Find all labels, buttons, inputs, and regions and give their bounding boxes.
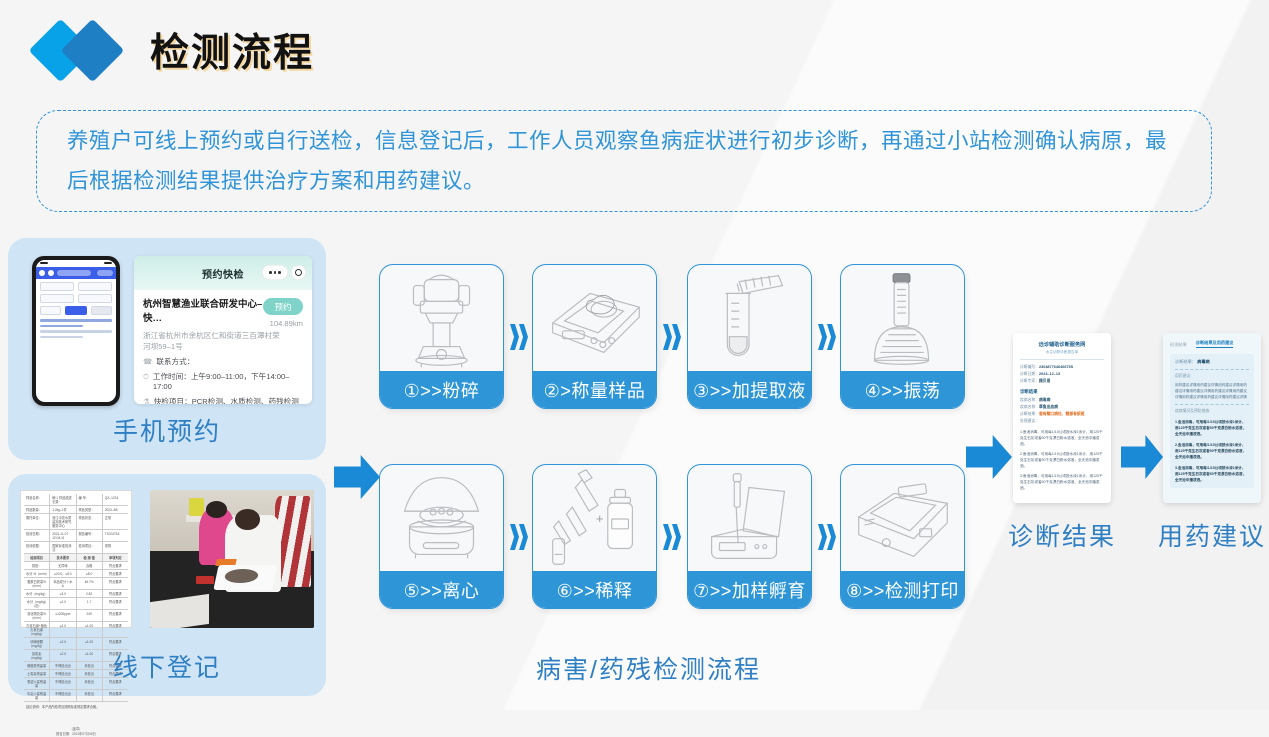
items-value: PCR检测、水质检测、药残检测 bbox=[192, 397, 299, 404]
contact-label: 联系方式： bbox=[156, 357, 194, 367]
diagnostic-field: 诊断编号：230487764646675S bbox=[1020, 364, 1104, 371]
miniapp-header: 预约快检 bbox=[134, 256, 312, 290]
diagnostic-paragraph: 1.鱼池消毒，可用每1/15公顷按水深1米计，用125千克生石灰或者50千克漂白… bbox=[1020, 429, 1104, 447]
store-distance: 104.89km bbox=[270, 319, 303, 328]
grinder-icon bbox=[380, 265, 503, 373]
diagnostic-row: 处理建议： bbox=[1020, 418, 1104, 425]
phone-icon: ☎ bbox=[143, 357, 152, 367]
lab-report-date: 报告日期：2021年07月08日 bbox=[24, 732, 128, 737]
filter-row-2 bbox=[36, 291, 116, 303]
chevron-right-icon-4 bbox=[508, 518, 534, 556]
lab-report-sign: （盖章） 报告日期：2021年07月08日 bbox=[24, 727, 128, 737]
step-label-5: ⑤>>离心 bbox=[380, 571, 503, 608]
test-tube-icon bbox=[688, 265, 811, 373]
table-row: 氯化物总量%（m/m）≤1200ppm249符合要求 bbox=[24, 610, 128, 622]
advice-note: 1.鱼池消毒，可用每/1/15公顷按水深1米计，用125千克生石灰或者50千克漂… bbox=[1175, 419, 1249, 437]
diagnostic-title: 远诊辅助诊断服务网 bbox=[1020, 341, 1104, 349]
items-row: ⚗ 快检项目：PCR检测、水质检测、药残检测 bbox=[143, 397, 303, 404]
arrow-to-advice bbox=[1121, 435, 1163, 479]
hours-row: ⏱ 工作时间：上午9:00–11:00，下午14:00–17:00 bbox=[143, 372, 303, 392]
step-card-3[interactable]: ③>>加提取液 bbox=[687, 264, 812, 409]
advice-box: 诊断结果： 病毒病 用药建议: 用药建议详情用药建议详情用药建议详情用药建议详情… bbox=[1170, 354, 1254, 488]
incubator-icon bbox=[688, 465, 811, 573]
back-icon bbox=[39, 270, 45, 276]
diagnostic-paragraph: 3.鱼池消毒，可用每1/15公顷按水深1米计，用125千克生石灰或者50千克漂白… bbox=[1020, 473, 1104, 491]
step-card-8[interactable]: ⑧>>检测打印 bbox=[840, 464, 965, 609]
phone-navbar bbox=[36, 267, 116, 279]
diagnostic-paragraphs: 1.鱼池消毒，可用每1/15公顷按水深1米计，用125千克生石灰或者50千克漂白… bbox=[1020, 429, 1104, 491]
miniapp-booking-card[interactable]: 预约快检 杭州智慧渔业联合研发中心–快… 预约 浙江省杭州市余杭区仁和街道三百潭… bbox=[134, 256, 312, 404]
step-card-2[interactable]: ②>称量样品 bbox=[532, 264, 657, 409]
scale-icon bbox=[533, 265, 656, 373]
lab-report-header-table: 样品名称：鲫 1 样品描述记录编 号：QX–1234样品数量：1.2kg–1件样… bbox=[24, 494, 128, 554]
step-label-8: ⑧>>检测打印 bbox=[841, 571, 964, 608]
result-caption-diagnosis: 诊断结果 bbox=[1008, 517, 1116, 553]
navbar-actions-placeholder bbox=[97, 270, 113, 276]
lab-report-document: 样品名称：鲫 1 样品描述记录编 号：QX–1234样品数量：1.2kg–1件样… bbox=[20, 490, 132, 628]
intro-callout: 养殖户可线上预约或自行送检，信息登记后，工作人员观察鱼病症状进行初步诊断，再通过… bbox=[36, 110, 1212, 212]
tab-diagnosis-advice[interactable]: 诊断结果及用药建议 bbox=[1196, 340, 1234, 348]
contact-row: ☎ 联系方式： bbox=[143, 357, 303, 367]
diagnostic-field: 诊断日期：2023–12–13 bbox=[1020, 371, 1104, 378]
book-button[interactable]: 预约 bbox=[263, 298, 303, 315]
diagnostic-report-sheet: 远诊辅助诊断服务网 水生动物诊断报告单 诊断编号：230487764646675… bbox=[1013, 333, 1111, 503]
table-row: 样品名称：鲫 1 样品描述记录编 号：QX–1234 bbox=[24, 494, 128, 506]
hours-label: 工作时间： bbox=[153, 372, 191, 381]
card-mobile-booking[interactable]: 预约快检 杭州智慧渔业联合研发中心–快… 预约 浙江省杭州市余杭区仁和街道三百潭… bbox=[8, 238, 326, 460]
diamond-logo-icon bbox=[36, 18, 132, 82]
page-header: 检测流程 bbox=[36, 18, 314, 82]
store-name: 杭州智慧渔业联合研发中心–快… bbox=[143, 298, 265, 326]
step-card-5[interactable]: ⑤>>离心 bbox=[379, 464, 504, 609]
chevron-right-icon-2 bbox=[661, 318, 687, 356]
store-address: 浙江省杭州市余杭区仁和街道三百潭村荣河坝59–1号 bbox=[143, 330, 283, 352]
table-row: 孔雀石绿+隐色孔雀石绿（mg/kg）≤2.0≤1.00符合要求 bbox=[24, 622, 128, 638]
diagnostic-section-title: 诊断结果 bbox=[1020, 389, 1104, 395]
advice-screen: 检测结果 诊断结果及用药建议 诊断结果： 病毒病 用药建议: 用药建议详情用药建… bbox=[1163, 333, 1261, 503]
slide-page: 检测流程 养殖户可线上预约或自行送检，信息登记后，工作人员观察鱼病症状进行初步诊… bbox=[0, 0, 1269, 710]
advice-result-key: 诊断结果： bbox=[1175, 359, 1196, 364]
navbar-title-placeholder bbox=[57, 270, 91, 276]
clock-icon: ⏱ bbox=[143, 372, 149, 382]
step-label-6: ⑥>>稀释 bbox=[533, 571, 656, 608]
advice-notes-label: 疾病情况及预防措施: bbox=[1175, 409, 1249, 414]
chevron-right-icon-3 bbox=[816, 318, 842, 356]
step-label-7: ⑦>>加样孵育 bbox=[688, 571, 811, 608]
step-label-1: ①>>粉碎 bbox=[380, 371, 503, 408]
table-row: 水分 %（m/m）≤20.0，≤8.0≤8.0符合要求 bbox=[24, 570, 128, 578]
phone-mockup bbox=[32, 256, 120, 406]
diagnostic-row: 诊断结果：患有鳃口病灶、鳃部有瘀斑 bbox=[1020, 411, 1104, 418]
phone-statusbar bbox=[36, 260, 116, 267]
diagnostic-row: 疾病名称：病毒病 bbox=[1020, 397, 1104, 404]
page-title: 检测流程 bbox=[150, 22, 314, 78]
result-advice[interactable]: 检测结果 诊断结果及用药建议 诊断结果： 病毒病 用药建议: 用药建议详情用药建… bbox=[1163, 333, 1261, 503]
table-header-row: 检测项目技术要求检 测 值单项判定 bbox=[24, 554, 128, 562]
table-row: 检测日期：2021–5–07 12:04:11报告编号：T102473A bbox=[24, 530, 128, 542]
centrifuge-icon bbox=[380, 465, 503, 573]
more-icon[interactable] bbox=[262, 265, 288, 280]
items-label: 快检项目： bbox=[154, 397, 192, 404]
vortex-mixer-icon bbox=[841, 265, 964, 373]
table-row: 检测依据：国家标准检测法检测项目：常规 bbox=[24, 542, 128, 554]
card-offline-registration[interactable]: 样品名称：鲫 1 样品描述记录编 号：QX–1234样品数量：1.2kg–1件样… bbox=[8, 474, 326, 696]
table-row: 氧氟沙星残留量不得检出出未检出符合要求 bbox=[24, 690, 128, 702]
reader-printer-icon bbox=[841, 465, 964, 573]
chevron-right-icon-6 bbox=[816, 518, 842, 556]
intro-text: 养殖户可线上预约或自行送检，信息登记后，工作人员观察鱼病症状进行初步诊断，再通过… bbox=[37, 121, 1211, 201]
step-card-7[interactable]: ⑦>>加样孵育 bbox=[687, 464, 812, 609]
miniapp-title: 预约快检 bbox=[202, 266, 244, 281]
phone-screen bbox=[36, 260, 116, 402]
field-registration-photo bbox=[150, 490, 314, 628]
table-row: 水分（mg/kg）≤3.02.82符合要求 bbox=[24, 590, 128, 598]
step-label-4: ④>>振荡 bbox=[841, 371, 964, 408]
flow-caption: 病害/药残检测流程 bbox=[536, 650, 761, 686]
chevron-right-icon-1 bbox=[508, 318, 534, 356]
lab-report-footnote: 结论说明：本产品所检项目按照标准规定要求合格。 bbox=[24, 702, 128, 713]
advice-notes: 1.鱼池消毒，可用每/1/15公顷按水深1米计，用125千克生石灰或者50千克漂… bbox=[1175, 419, 1249, 483]
result-diagnosis[interactable]: 远诊辅助诊断服务网 水生动物诊断报告单 诊断编号：230487764646675… bbox=[1013, 333, 1111, 503]
step-card-4[interactable]: ④>>振荡 bbox=[840, 264, 965, 409]
home-icon bbox=[48, 270, 54, 276]
step-label-2: ②>称量样品 bbox=[533, 371, 656, 408]
svg-text:+: + bbox=[596, 511, 603, 526]
result-caption-advice: 用药建议 bbox=[1158, 517, 1266, 553]
close-target-icon[interactable] bbox=[291, 265, 306, 280]
search-row bbox=[36, 303, 116, 315]
step-card-1[interactable]: ①>>粉碎 bbox=[379, 264, 504, 409]
advice-result-row: 诊断结果： 病毒病 bbox=[1175, 359, 1249, 365]
step-card-6[interactable]: + ⑥>>稀释 bbox=[532, 464, 657, 609]
diagnostic-subtitle: 水生动物诊断报告单 bbox=[1020, 349, 1104, 355]
arrow-left-to-flow bbox=[334, 455, 380, 499]
flask-icon: ⚗ bbox=[143, 397, 150, 404]
diagnostic-rows: 疾病名称：病毒病疾病名称：草鱼出血病诊断结果：患有鳃口病灶、鳃部有瘀斑处理建议： bbox=[1020, 397, 1104, 425]
advice-label: 用药建议: bbox=[1175, 374, 1249, 379]
tab-test-result[interactable]: 检测结果 bbox=[1170, 342, 1187, 348]
advice-text: 用药建议详情用药建议详情用药建议详情用药建议详情用药建议详情用药建议详情用药建议… bbox=[1175, 382, 1249, 400]
arrow-to-diagnosis bbox=[966, 435, 1012, 479]
table-row: 委托单位：浙江中农水质监测技术研究服务中心样品状态：正常 bbox=[24, 514, 128, 530]
advice-note: 3.鱼池消毒，可用每/1/15公顷按水深1米计，用125千克生石灰或者50千克漂… bbox=[1175, 465, 1249, 483]
miniapp-capsule-buttons[interactable] bbox=[262, 265, 306, 280]
table-row: 水分（mg/kg）（总）≤2.01.7符合要求 bbox=[24, 598, 128, 610]
filter-row-1 bbox=[36, 279, 116, 291]
phone-result-list bbox=[36, 315, 116, 338]
table-row: 样品数量：1.2kg–1件样品类型：2020–B5 bbox=[24, 506, 128, 514]
advice-note: 2.鱼池消毒，可用每/1/15公顷按水深1米计，用125千克生石灰或者50千克漂… bbox=[1175, 442, 1249, 460]
diagnostic-paragraph: 2.鱼池消毒，可用每1/15公顷按水深1米计，用125千克生石灰或者50千克漂白… bbox=[1020, 451, 1104, 469]
card-caption-mobile: 手机预约 bbox=[8, 412, 326, 448]
card-caption-offline: 线下登记 bbox=[8, 648, 326, 684]
table-row: 粗蛋白质量%（m/m）本品成分＋水 A46.7%符合要求 bbox=[24, 578, 128, 590]
step-label-3: ③>>加提取液 bbox=[688, 371, 811, 408]
pipette-bottle-icon: + bbox=[533, 465, 656, 573]
diagnostic-fields: 诊断编号：230487764646675S诊断日期：2023–12–13诊断专家… bbox=[1020, 364, 1104, 385]
advice-tabs[interactable]: 检测结果 诊断结果及用药建议 bbox=[1170, 340, 1254, 348]
advice-result-value: 病毒病 bbox=[1197, 359, 1210, 364]
miniapp-body: 杭州智慧渔业联合研发中心–快… 预约 浙江省杭州市余杭区仁和街道三百潭村荣河坝5… bbox=[134, 290, 312, 404]
diagnostic-field: 诊断专家：顾贝易 bbox=[1020, 378, 1104, 385]
chevron-right-icon-5 bbox=[661, 518, 687, 556]
table-row: 感官：无异味合格符合要求 bbox=[24, 562, 128, 570]
diagnostic-row: 疾病名称：草鱼出血病 bbox=[1020, 404, 1104, 411]
